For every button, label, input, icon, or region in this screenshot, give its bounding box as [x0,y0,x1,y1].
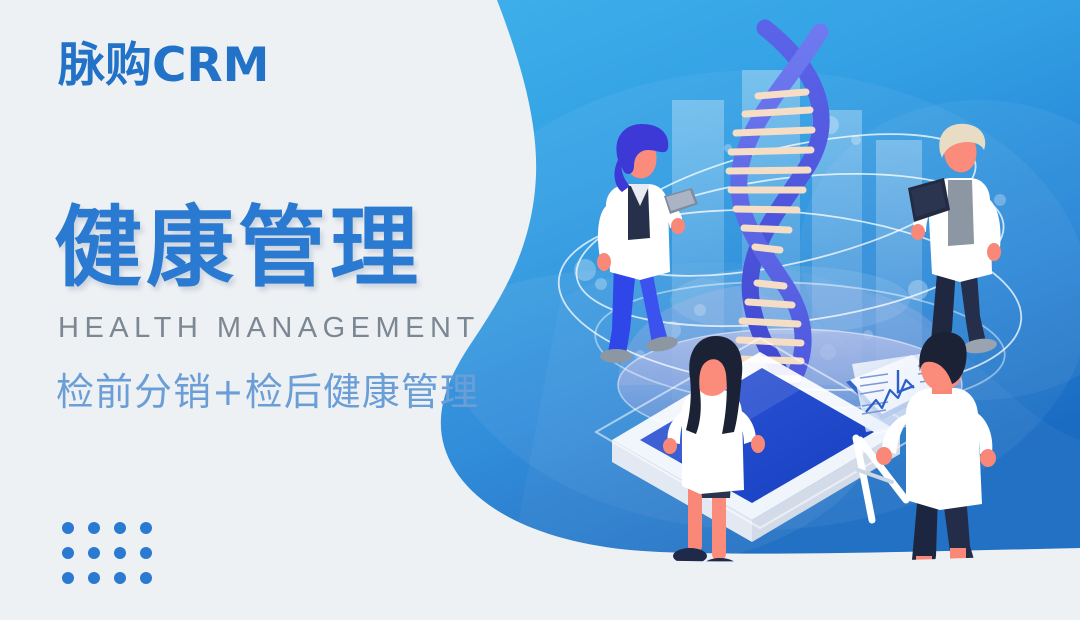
grid-dot [88,522,100,534]
dot-grid-decoration [62,522,152,584]
grid-dot [114,572,126,584]
grid-dot [114,522,126,534]
grid-dot [140,572,152,584]
grid-dot [114,547,126,559]
grid-dot [62,572,74,584]
grid-dot [88,547,100,559]
grid-dot [62,522,74,534]
brand-logo[interactable]: 脉购CRM [58,42,269,89]
health-management-banner: 脉购CRM 健康管理 HEALTH MANAGEMENT 检前分销+检后健康管理 [0,0,1080,620]
page-title: 健康管理 [54,204,422,292]
page-subtitle: HEALTH MANAGEMENT [58,314,480,343]
bottom-light-sweep [0,552,1080,620]
grid-dot [88,572,100,584]
background-illustration [0,0,1080,620]
grid-dot [140,547,152,559]
grid-dot [140,522,152,534]
grid-dot [62,547,74,559]
page-tagline: 检前分销+检后健康管理 [56,373,479,411]
